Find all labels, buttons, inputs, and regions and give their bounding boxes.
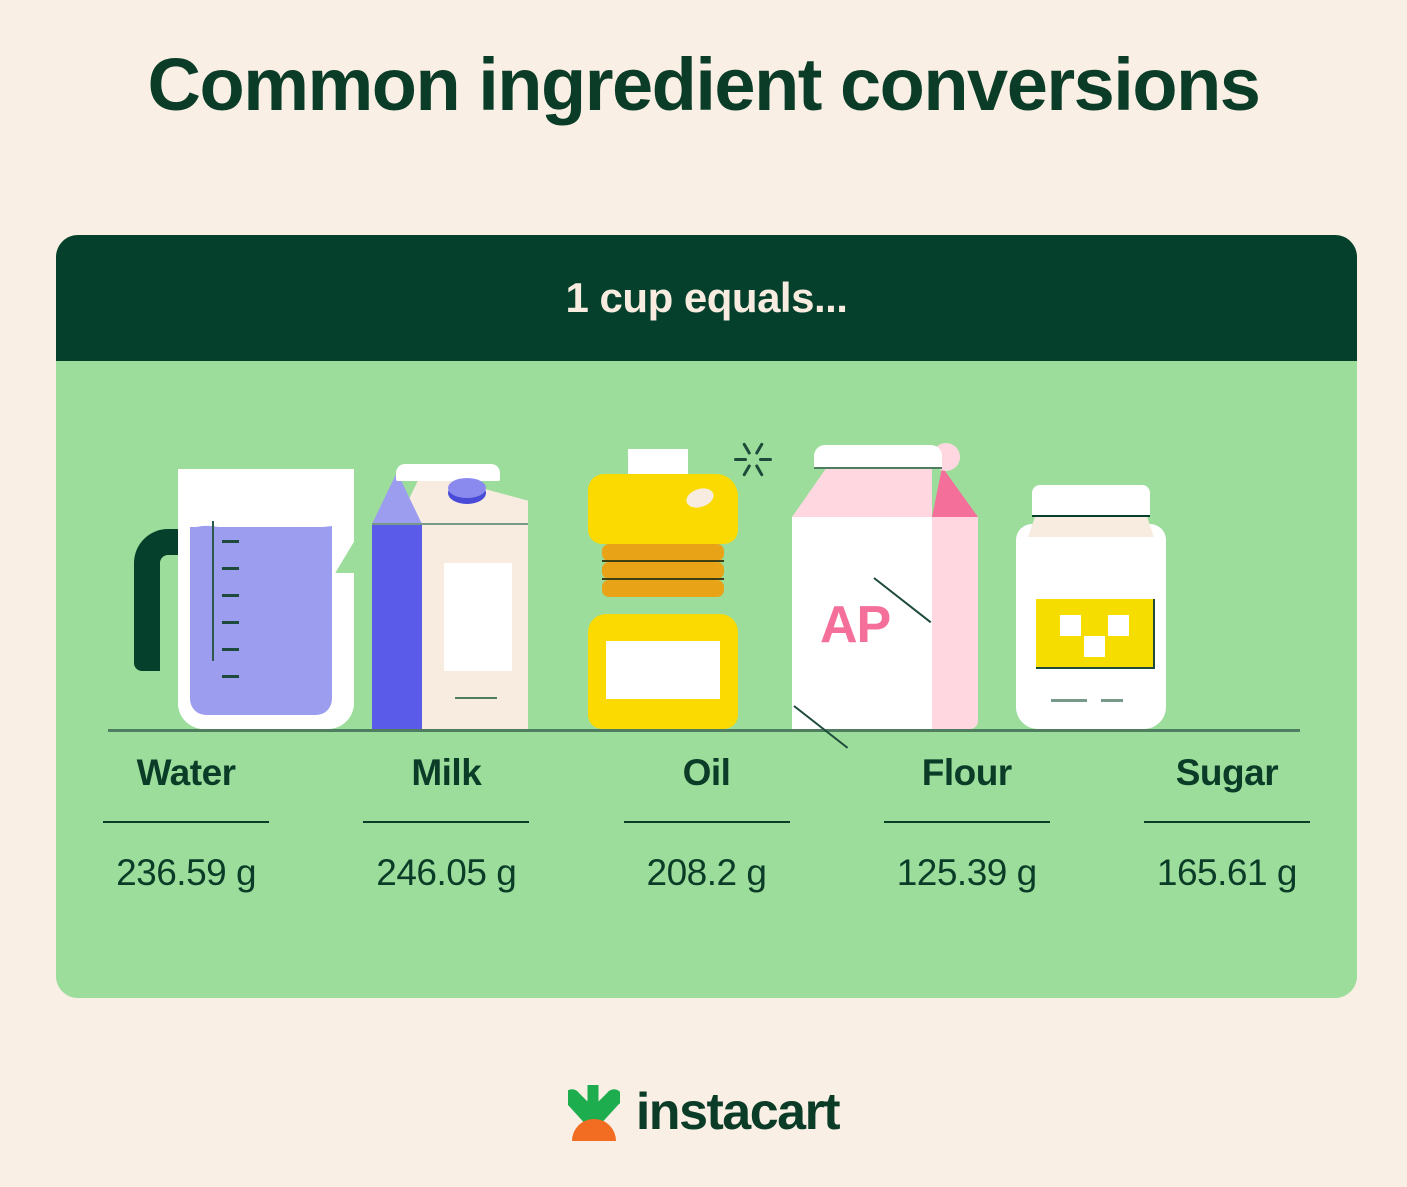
- oil-bottle-icon: [576, 429, 776, 729]
- oil-rib: [602, 580, 724, 597]
- column-rule: [884, 821, 1050, 823]
- sparkle-icon: [736, 435, 782, 481]
- oil-rib-line: [602, 560, 724, 562]
- oil-rib: [602, 562, 724, 579]
- conversion-column-sugar: Sugar 165.61 g: [1097, 753, 1357, 893]
- card-body: AP: [56, 361, 1357, 998]
- milk-dash: [455, 697, 497, 699]
- ingredient-value: 236.59 g: [64, 853, 308, 894]
- jug-tick: [222, 594, 239, 597]
- conversion-column-milk: Milk 246.05 g: [316, 753, 576, 893]
- conversion-columns: Water 236.59 g Milk 246.05 g Oil 208.2 g…: [56, 753, 1357, 893]
- oil-rib-line: [602, 578, 724, 580]
- illustration-row: AP: [56, 361, 1357, 733]
- sugar-jar-shoulder: [1028, 515, 1154, 537]
- sugar-cube: [1084, 636, 1105, 657]
- milk-label: [444, 563, 512, 671]
- column-rule: [103, 821, 269, 823]
- jug-tick: [222, 675, 239, 678]
- carrot-logo-svg: [568, 1083, 620, 1141]
- sugar-jar-icon: [1006, 429, 1206, 729]
- oil-bottle-neck: [588, 474, 738, 544]
- measuring-jug-icon: [134, 429, 364, 729]
- jug-tick: [222, 540, 239, 543]
- conversion-column-flour: Flour 125.39 g: [837, 753, 1097, 893]
- sugar-cube: [1060, 615, 1081, 636]
- flour-gable-top: [792, 467, 932, 517]
- milk-ridge-line: [372, 523, 528, 525]
- flour-carton-icon: AP: [786, 429, 986, 729]
- ingredient-name: Milk: [324, 753, 568, 794]
- ingredient-name: Flour: [845, 753, 1089, 794]
- page-title: Common ingredient conversions: [0, 44, 1407, 125]
- conversion-column-oil: Oil 208.2 g: [576, 753, 836, 893]
- jug-tick: [222, 621, 239, 624]
- card-header: 1 cup equals...: [56, 235, 1357, 361]
- ingredient-name: Sugar: [1105, 753, 1349, 794]
- flour-gable-triangle: [932, 467, 978, 517]
- milk-carton-icon: [366, 429, 556, 729]
- infographic-page: Common ingredient conversions 1 cup equa…: [0, 0, 1407, 1187]
- sugar-jar-lid: [1032, 485, 1150, 515]
- instacart-wordmark: instacart: [636, 1086, 839, 1138]
- oil-cap: [628, 449, 688, 477]
- sugar-dash: [1051, 699, 1087, 702]
- card-header-title: 1 cup equals...: [566, 274, 848, 322]
- sugar-cube: [1108, 615, 1129, 636]
- jug-tick: [222, 648, 239, 651]
- conversion-column-water: Water 236.59 g: [56, 753, 316, 893]
- sugar-lid-line: [1032, 515, 1150, 517]
- column-rule: [1144, 821, 1310, 823]
- flour-ridge-line: [814, 467, 942, 469]
- ingredient-value: 125.39 g: [845, 853, 1089, 894]
- oil-rib: [602, 544, 724, 561]
- oil-label: [606, 641, 720, 699]
- sugar-dash: [1101, 699, 1123, 702]
- ingredient-value: 165.61 g: [1105, 853, 1349, 894]
- ingredient-value: 246.05 g: [324, 853, 568, 894]
- instacart-carrot-icon: [568, 1083, 620, 1141]
- milk-side-panel: [372, 524, 422, 729]
- column-rule: [363, 821, 529, 823]
- jug-tick: [222, 567, 239, 570]
- milk-cap-top: [448, 478, 486, 498]
- jug-scale-line: [212, 521, 214, 661]
- sugar-label: [1036, 599, 1155, 669]
- flour-side-panel: [932, 517, 978, 729]
- conversion-card: 1 cup equals...: [56, 235, 1357, 998]
- ingredient-name: Oil: [584, 753, 828, 794]
- footer-brand: instacart: [0, 1083, 1407, 1141]
- milk-top-fold: [396, 464, 500, 481]
- ingredient-value: 208.2 g: [584, 853, 828, 894]
- flour-top-fold: [814, 445, 942, 467]
- ingredient-name: Water: [64, 753, 308, 794]
- column-rule: [624, 821, 790, 823]
- flour-label-text: AP: [820, 599, 890, 651]
